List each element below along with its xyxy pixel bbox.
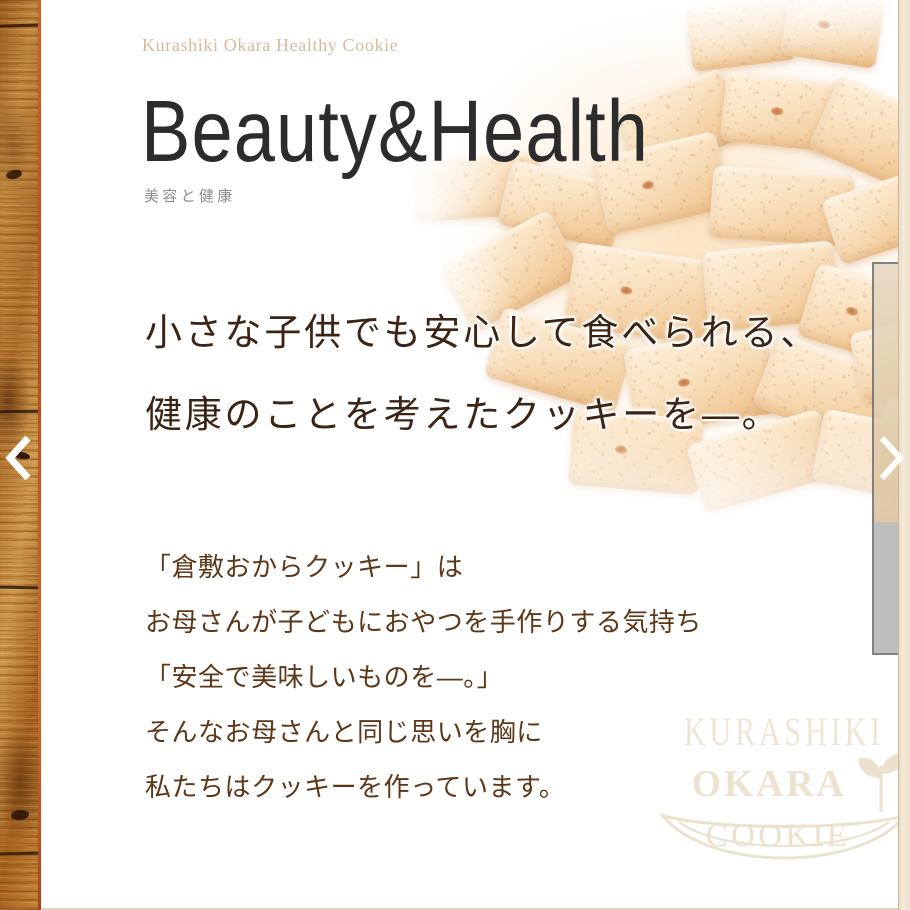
- headline-line-1: 小さな子供でも安心して食べられる、: [145, 292, 885, 374]
- page-subtitle: 美容と健康: [144, 185, 236, 206]
- slide-canvas: KURASHIKI OKARA COOKIE Kurashiki Okara H…: [41, 0, 898, 910]
- headline-line-2: 健康のことを考えたクッキーを—。: [145, 374, 885, 456]
- body-line-4: そんなお母さんと同じ思いを胸に: [145, 705, 845, 760]
- body-copy: 「倉敷おからクッキー」は お母さんが子どもにおやつを手作りする気持ち 「安全で美…: [145, 540, 845, 815]
- body-line-2: お母さんが子どもにおやつを手作りする気持ち: [145, 595, 845, 650]
- headline: 小さな子供でも安心して食べられる、 健康のことを考えたクッキーを—。: [145, 292, 885, 456]
- body-line-1: 「倉敷おからクッキー」は: [145, 540, 845, 595]
- chevron-right-icon: [870, 430, 910, 486]
- wood-knot: [11, 809, 30, 821]
- body-line-5: 私たちはクッキーを作っています。: [145, 760, 845, 815]
- wood-rail-edge: [38, 0, 41, 910]
- watermark-line-3: COOKIE: [649, 818, 898, 855]
- page-title: Beauty&Health: [141, 88, 649, 175]
- chevron-left-icon: [0, 430, 38, 486]
- wood-seam: [0, 23, 41, 27]
- wood-seam: [0, 586, 41, 590]
- wood-seam: [0, 852, 41, 856]
- carousel-next-button[interactable]: [870, 430, 910, 486]
- carousel-prev-button[interactable]: [0, 430, 38, 486]
- body-line-3: 「安全で美味しいものを—。」: [145, 650, 845, 705]
- wood-knot: [5, 168, 23, 180]
- promo-slide: KURASHIKI OKARA COOKIE Kurashiki Okara H…: [0, 0, 910, 910]
- wood-seam: [0, 410, 41, 414]
- eyebrow-text: Kurashiki Okara Healthy Cookie: [142, 35, 398, 56]
